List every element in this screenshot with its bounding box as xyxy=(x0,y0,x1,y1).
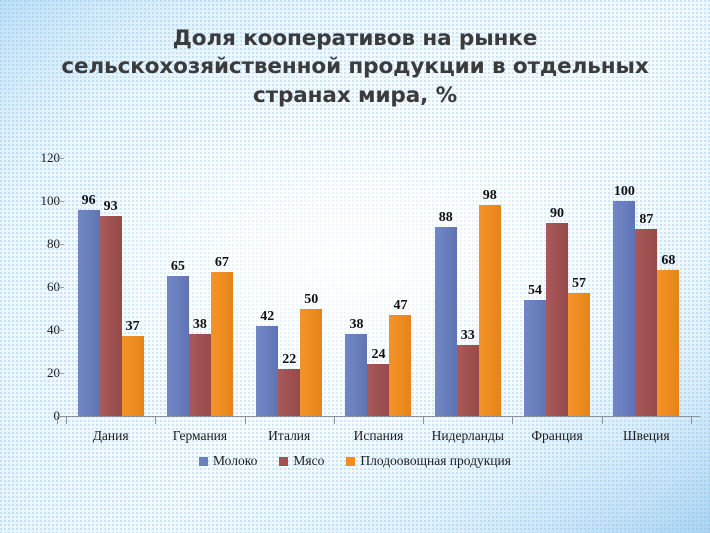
bar[interactable]: 90 xyxy=(546,223,568,417)
bar-value-label: 68 xyxy=(661,253,675,269)
bar-value-label: 96 xyxy=(82,193,96,209)
bar-value-label: 37 xyxy=(126,319,140,335)
y-axis-tick-mark xyxy=(57,287,64,288)
bar-value-label: 57 xyxy=(572,276,586,292)
bar-slot: 22 xyxy=(278,158,300,416)
x-axis-tick-mark xyxy=(423,417,424,424)
bar[interactable]: 67 xyxy=(211,272,233,416)
bar[interactable]: 98 xyxy=(479,205,501,416)
bar[interactable]: 100 xyxy=(613,201,635,416)
x-axis-tick-mark xyxy=(334,417,335,424)
bar-value-label: 38 xyxy=(193,317,207,333)
x-axis-tick-mark xyxy=(512,417,513,424)
bar-value-label: 54 xyxy=(528,283,542,299)
y-axis-tick-mark xyxy=(57,330,64,331)
bar[interactable]: 22 xyxy=(278,369,300,416)
bar[interactable]: 38 xyxy=(345,334,367,416)
bar[interactable]: 50 xyxy=(300,309,322,417)
x-axis-tick-mark xyxy=(66,417,67,424)
bar-value-label: 50 xyxy=(304,292,318,308)
x-axis-labels: ДанияГерманияИталияИспанияНидерландыФран… xyxy=(66,428,691,444)
x-axis-tick-mark xyxy=(602,417,603,424)
y-axis-labels: 020406080100120 xyxy=(18,158,60,416)
bar-group: 883398 xyxy=(423,158,512,416)
bar[interactable]: 47 xyxy=(389,315,411,416)
bar-value-label: 38 xyxy=(349,317,363,333)
legend-item[interactable]: Мясо xyxy=(279,453,324,469)
bar-value-label: 100 xyxy=(614,184,635,200)
bar-value-label: 33 xyxy=(461,328,475,344)
bar-value-label: 47 xyxy=(393,298,407,314)
bar-value-label: 65 xyxy=(171,259,185,275)
bar-slot: 42 xyxy=(256,158,278,416)
chart-legend: МолокоМясоПлодоовощная продукция xyxy=(0,453,710,469)
x-axis-origin-tick-mark xyxy=(57,417,58,424)
bar-group: 382447 xyxy=(334,158,423,416)
bar[interactable]: 93 xyxy=(100,216,122,416)
bar[interactable]: 68 xyxy=(657,270,679,416)
bar-slot: 24 xyxy=(367,158,389,416)
bar-value-label: 67 xyxy=(215,255,229,271)
legend-item[interactable]: Плодоовощная продукция xyxy=(346,453,511,469)
x-axis-tick-mark xyxy=(245,417,246,424)
bar-slot: 38 xyxy=(345,158,367,416)
x-axis-category-label: Нидерланды xyxy=(423,428,512,444)
bar-slot: 90 xyxy=(546,158,568,416)
bar-chart: 020406080100120 969337653867422250382447… xyxy=(0,140,710,490)
bar[interactable]: 65 xyxy=(167,276,189,416)
bar[interactable]: 88 xyxy=(435,227,457,416)
x-axis-category-label: Швеция xyxy=(602,428,691,444)
bar-slot: 67 xyxy=(211,158,233,416)
bar-group: 422250 xyxy=(245,158,334,416)
bar-value-label: 24 xyxy=(371,347,385,363)
legend-label: Мясо xyxy=(293,453,324,469)
page-title: Доля кооперативов на рынке сельскохозяйс… xyxy=(40,25,670,110)
bar-value-label: 93 xyxy=(104,199,118,215)
bar[interactable]: 24 xyxy=(367,364,389,416)
legend-swatch-icon xyxy=(279,457,288,466)
x-axis-category-label: Германия xyxy=(155,428,244,444)
bar-group: 653867 xyxy=(155,158,244,416)
y-axis-tick-mark xyxy=(57,244,64,245)
bar-slot: 57 xyxy=(568,158,590,416)
bar[interactable]: 96 xyxy=(78,210,100,416)
bar-group: 969337 xyxy=(66,158,155,416)
x-axis-category-label: Италия xyxy=(245,428,334,444)
legend-swatch-icon xyxy=(199,457,208,466)
bar[interactable]: 42 xyxy=(256,326,278,416)
legend-item[interactable]: Молоко xyxy=(199,453,257,469)
bar-value-label: 88 xyxy=(439,210,453,226)
bar-slot: 96 xyxy=(78,158,100,416)
bar[interactable]: 33 xyxy=(457,345,479,416)
y-axis-tick-mark xyxy=(57,158,64,159)
bar[interactable]: 57 xyxy=(568,293,590,416)
bar-slot: 65 xyxy=(167,158,189,416)
x-axis-category-label: Испания xyxy=(334,428,423,444)
bar-slot: 38 xyxy=(189,158,211,416)
bar-slot: 87 xyxy=(635,158,657,416)
bar-slot: 93 xyxy=(100,158,122,416)
x-axis-category-label: Франция xyxy=(512,428,601,444)
bar-group: 1008768 xyxy=(602,158,691,416)
bar-value-label: 87 xyxy=(639,212,653,228)
bar-group: 549057 xyxy=(512,158,601,416)
x-axis-tick-mark xyxy=(155,417,156,424)
legend-label: Молоко xyxy=(213,453,257,469)
bar[interactable]: 37 xyxy=(122,336,144,416)
legend-label: Плодоовощная продукция xyxy=(360,453,511,469)
bar-value-label: 22 xyxy=(282,352,296,368)
bar-slot: 68 xyxy=(657,158,679,416)
bar[interactable]: 38 xyxy=(189,334,211,416)
bar-value-label: 90 xyxy=(550,206,564,222)
y-axis-tick-mark xyxy=(57,201,64,202)
y-axis-tick-mark xyxy=(57,373,64,374)
x-axis-category-label: Дания xyxy=(66,428,155,444)
bar-slot: 88 xyxy=(435,158,457,416)
slide-canvas: Доля кооперативов на рынке сельскохозяйс… xyxy=(0,0,710,533)
x-axis-line xyxy=(57,416,700,417)
bar-value-label: 42 xyxy=(260,309,274,325)
bar-value-label: 98 xyxy=(483,188,497,204)
bar-slot: 54 xyxy=(524,158,546,416)
bar-slot: 37 xyxy=(122,158,144,416)
x-axis-tick-mark xyxy=(691,417,692,424)
bar-slot: 33 xyxy=(457,158,479,416)
bar[interactable]: 54 xyxy=(524,300,546,416)
bar-slot: 100 xyxy=(613,158,635,416)
bar[interactable]: 87 xyxy=(635,229,657,416)
bar-slot: 98 xyxy=(479,158,501,416)
legend-swatch-icon xyxy=(346,457,355,466)
bar-slot: 50 xyxy=(300,158,322,416)
bar-slot: 47 xyxy=(389,158,411,416)
bar-groups: 9693376538674222503824478833985490571008… xyxy=(66,158,691,416)
